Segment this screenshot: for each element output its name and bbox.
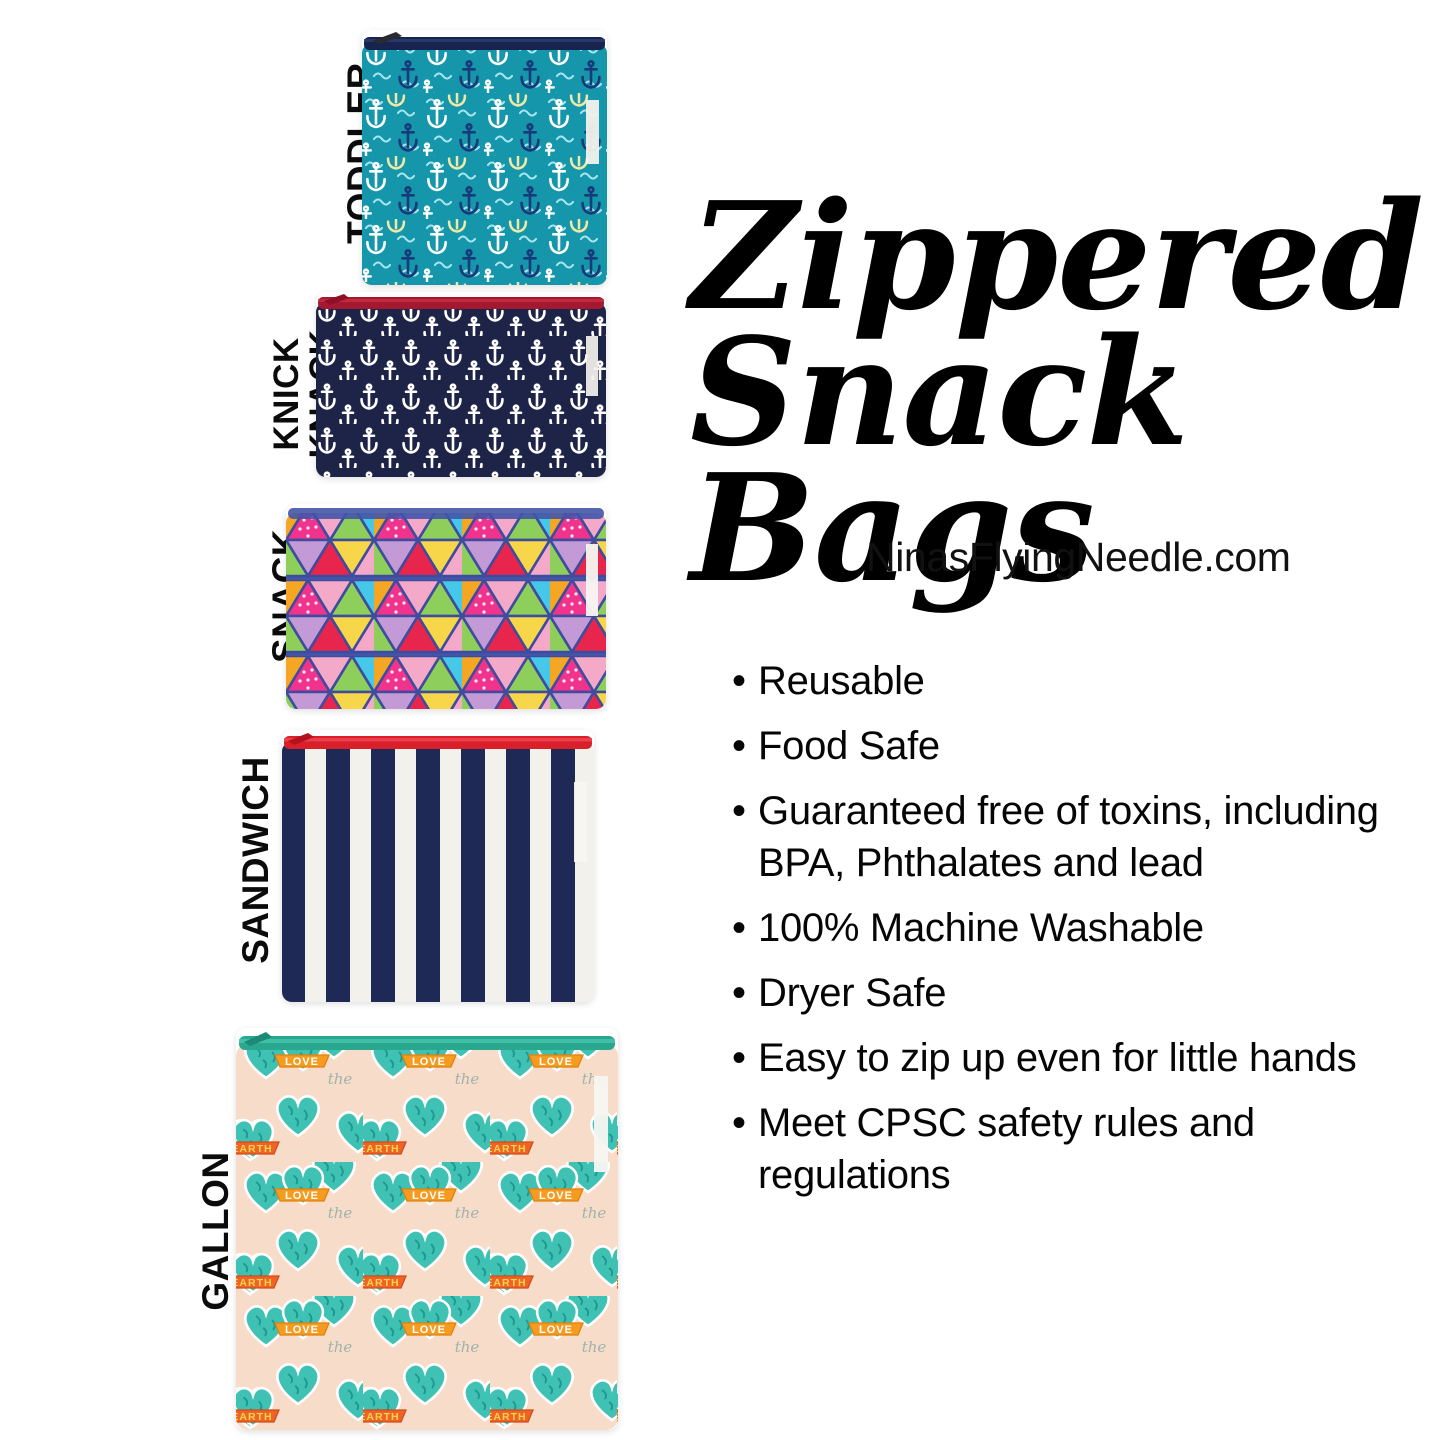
product-sandwich: SANDWICH [0, 722, 680, 1012]
website-url[interactable]: NinasFlyingNeedle.com [866, 534, 1291, 581]
toddler-fabric-svg [362, 30, 607, 285]
list-item: • Dryer Safe [732, 967, 1392, 1019]
list-item: • Reusable [732, 655, 1392, 707]
infographic-canvas: TODDLER [0, 0, 1440, 1440]
list-item-label: Reusable [758, 655, 1392, 707]
bullet-icon: • [732, 655, 758, 707]
size-label-sandwich: SANDWICH [237, 745, 283, 975]
product-snack: SNACK [0, 498, 680, 718]
list-item-label: 100% Machine Washable [758, 902, 1392, 954]
bag-image-gallon: LOVE EARTH the the [236, 1028, 618, 1430]
list-item-label: Guaranteed free of toxins, including BPA… [758, 785, 1392, 889]
list-item: • Guaranteed free of toxins, including B… [732, 785, 1392, 889]
list-item-label: Food Safe [758, 720, 1392, 772]
product-toddler: TODDLER [0, 0, 680, 290]
bullet-icon: • [732, 720, 758, 772]
list-item: • Meet CPSC safety rules and regulations [732, 1097, 1392, 1201]
bag-image-toddler [362, 30, 607, 285]
bullet-icon: • [732, 967, 758, 1019]
list-item-label: Dryer Safe [758, 967, 1392, 1019]
bag-image-snack [286, 504, 606, 709]
list-item: • Easy to zip up even for little hands [732, 1032, 1392, 1084]
list-item-label: Meet CPSC safety rules and regulations [758, 1097, 1392, 1201]
feature-list: • Reusable • Food Safe • Guaranteed free… [732, 655, 1392, 1214]
list-item: • 100% Machine Washable [732, 902, 1392, 954]
bullet-icon: • [732, 785, 758, 837]
knick-knack-fabric-svg [316, 292, 606, 477]
snack-fabric-svg [286, 504, 606, 709]
gallon-fabric-svg: LOVE EARTH the the [236, 1028, 618, 1430]
bag-image-knick-knack [316, 292, 606, 477]
bullet-icon: • [732, 1032, 758, 1084]
list-item-label: Easy to zip up even for little hands [758, 1032, 1392, 1084]
sandwich-fabric-svg [282, 730, 594, 1002]
bullet-icon: • [732, 902, 758, 954]
product-gallon: GALLON [0, 1018, 680, 1438]
bullet-icon: • [732, 1097, 758, 1149]
bag-image-sandwich [282, 730, 594, 1002]
list-item: • Food Safe [732, 720, 1392, 772]
page-title-line-1: Zippered [690, 188, 1420, 324]
product-knick-knack: KNICK KNACK [0, 288, 680, 488]
